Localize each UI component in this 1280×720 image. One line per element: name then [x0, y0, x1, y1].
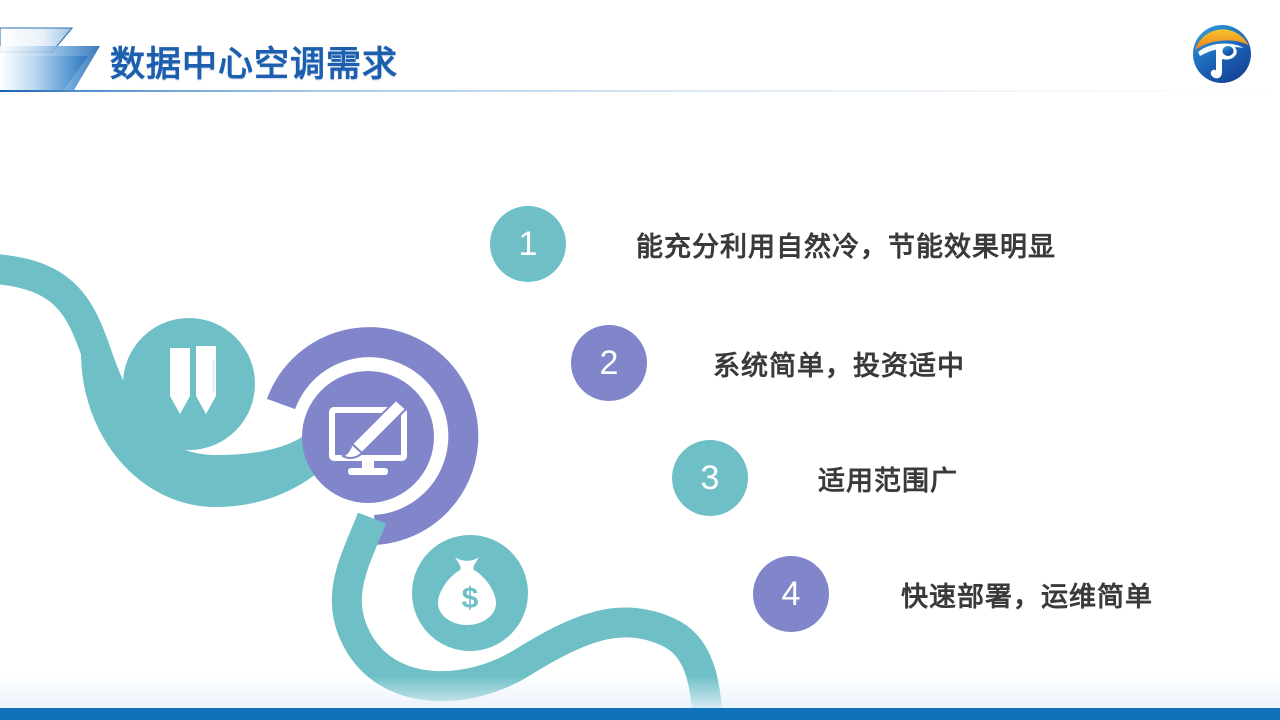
- bullet-row-1[interactable]: 1 能充分利用自然冷，节能效果明显: [490, 206, 1056, 282]
- bullet-row-2[interactable]: 2 系统简单，投资适中: [571, 325, 965, 401]
- bullet-number-badge-3: 3: [672, 440, 748, 516]
- bullet-number-badge-4: 4: [753, 556, 829, 632]
- bullet-row-3[interactable]: 3 适用范围广: [672, 440, 958, 516]
- bullet-text-4: 快速部署，运维简单: [901, 575, 1153, 614]
- bullet-list: 1 能充分利用自然冷，节能效果明显 2 系统简单，投资适中 3 适用范围广 4 …: [0, 0, 1280, 720]
- bullet-row-4[interactable]: 4 快速部署，运维简单: [753, 556, 1153, 632]
- bullet-text-1: 能充分利用自然冷，节能效果明显: [636, 225, 1056, 264]
- footer-bar: [0, 708, 1280, 720]
- slide-canvas: 数据中心空调需求: [0, 0, 1280, 720]
- bullet-number-badge-2: 2: [571, 325, 647, 401]
- bullet-text-2: 系统简单，投资适中: [713, 344, 965, 383]
- bullet-text-3: 适用范围广: [818, 459, 958, 498]
- bullet-number-badge-1: 1: [490, 206, 566, 282]
